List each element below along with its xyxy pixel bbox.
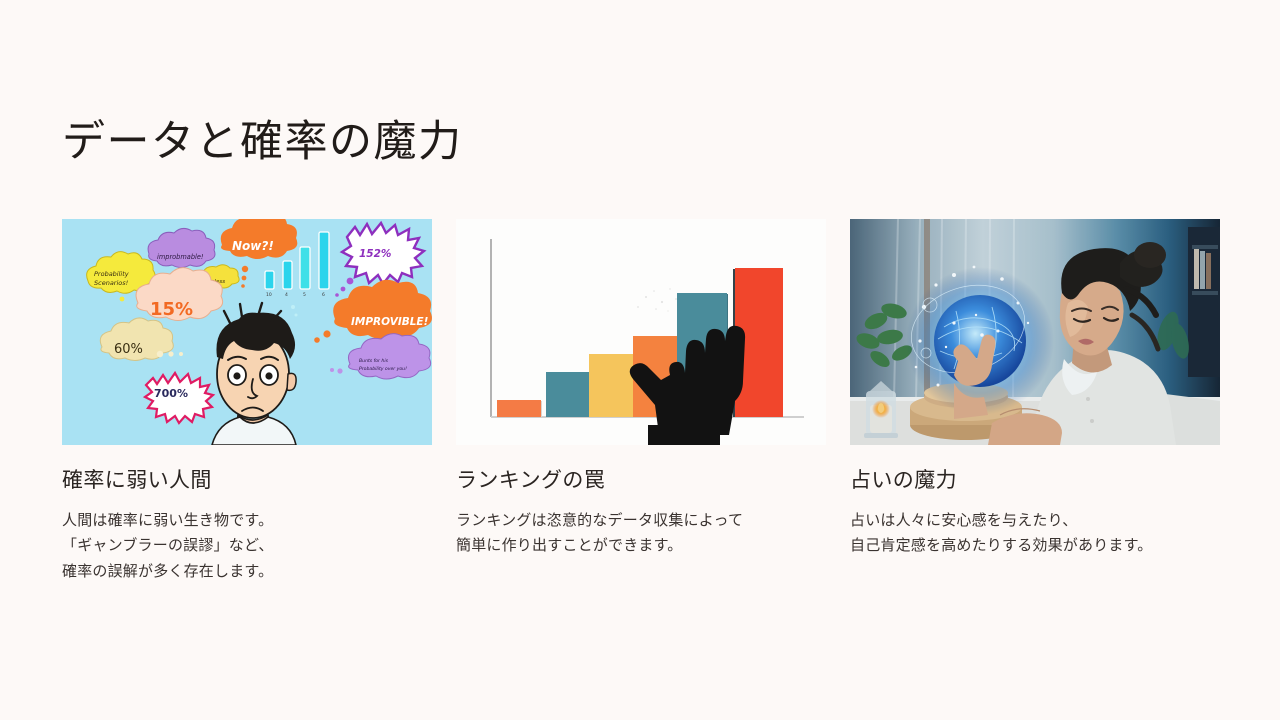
figure-woman-with-glowing-crystal-ball [850, 219, 1220, 445]
card-grid: Probability Scenarios! improbmable! Fare… [62, 219, 1218, 584]
card-body: 占いは人々に安心感を与えたり、 自己肯定感を高めたりする効果があります。 [850, 508, 1220, 558]
figure-bar-chart-with-hand-silhouette [456, 219, 826, 445]
svg-text:improbmable!: improbmable! [157, 253, 204, 261]
card-fortune-telling-power: 占いの魔力 占いは人々に安心感を与えたり、 自己肯定感を高めたりする効果がありま… [850, 219, 1220, 584]
card-body: ランキングは恣意的なデータ収集によって 簡単に作り出すことができます。 [456, 508, 826, 558]
card-heading: ランキングの罠 [456, 467, 826, 494]
page-title: データと確率の魔力 [62, 116, 463, 170]
svg-text:5: 5 [303, 292, 306, 298]
svg-text:700%: 700% [154, 387, 188, 400]
svg-text:Probability: Probability [94, 270, 129, 278]
card-probability-weak-humans: Probability Scenarios! improbmable! Fare… [62, 219, 432, 584]
card-ranking-trap: ランキングの罠 ランキングは恣意的なデータ収集によって 簡単に作り出すことができ… [456, 219, 826, 584]
svg-text:15%: 15% [150, 299, 193, 320]
svg-text:Bunts for his: Bunts for his [359, 358, 389, 364]
svg-text:10: 10 [266, 292, 272, 298]
figure-confused-man-probability-bubbles: Probability Scenarios! improbmable! Fare… [62, 219, 432, 445]
svg-text:60%: 60% [114, 342, 143, 357]
svg-text:Scenarios!: Scenarios! [94, 279, 129, 287]
card-heading: 占いの魔力 [850, 467, 1220, 494]
card-body: 人間は確率に弱い生き物です。 「ギャンブラーの誤謬」など、 確率の誤解が多く存在… [62, 508, 432, 584]
svg-text:6: 6 [322, 292, 325, 298]
svg-text:IMPROVIBLE!: IMPROVIBLE! [351, 316, 429, 328]
svg-text:Now?!: Now?! [232, 239, 274, 253]
svg-text:152%: 152% [359, 248, 391, 260]
svg-text:4: 4 [285, 292, 288, 298]
svg-text:Probability over you!: Probability over you! [359, 366, 407, 372]
card-heading: 確率に弱い人間 [62, 467, 432, 494]
